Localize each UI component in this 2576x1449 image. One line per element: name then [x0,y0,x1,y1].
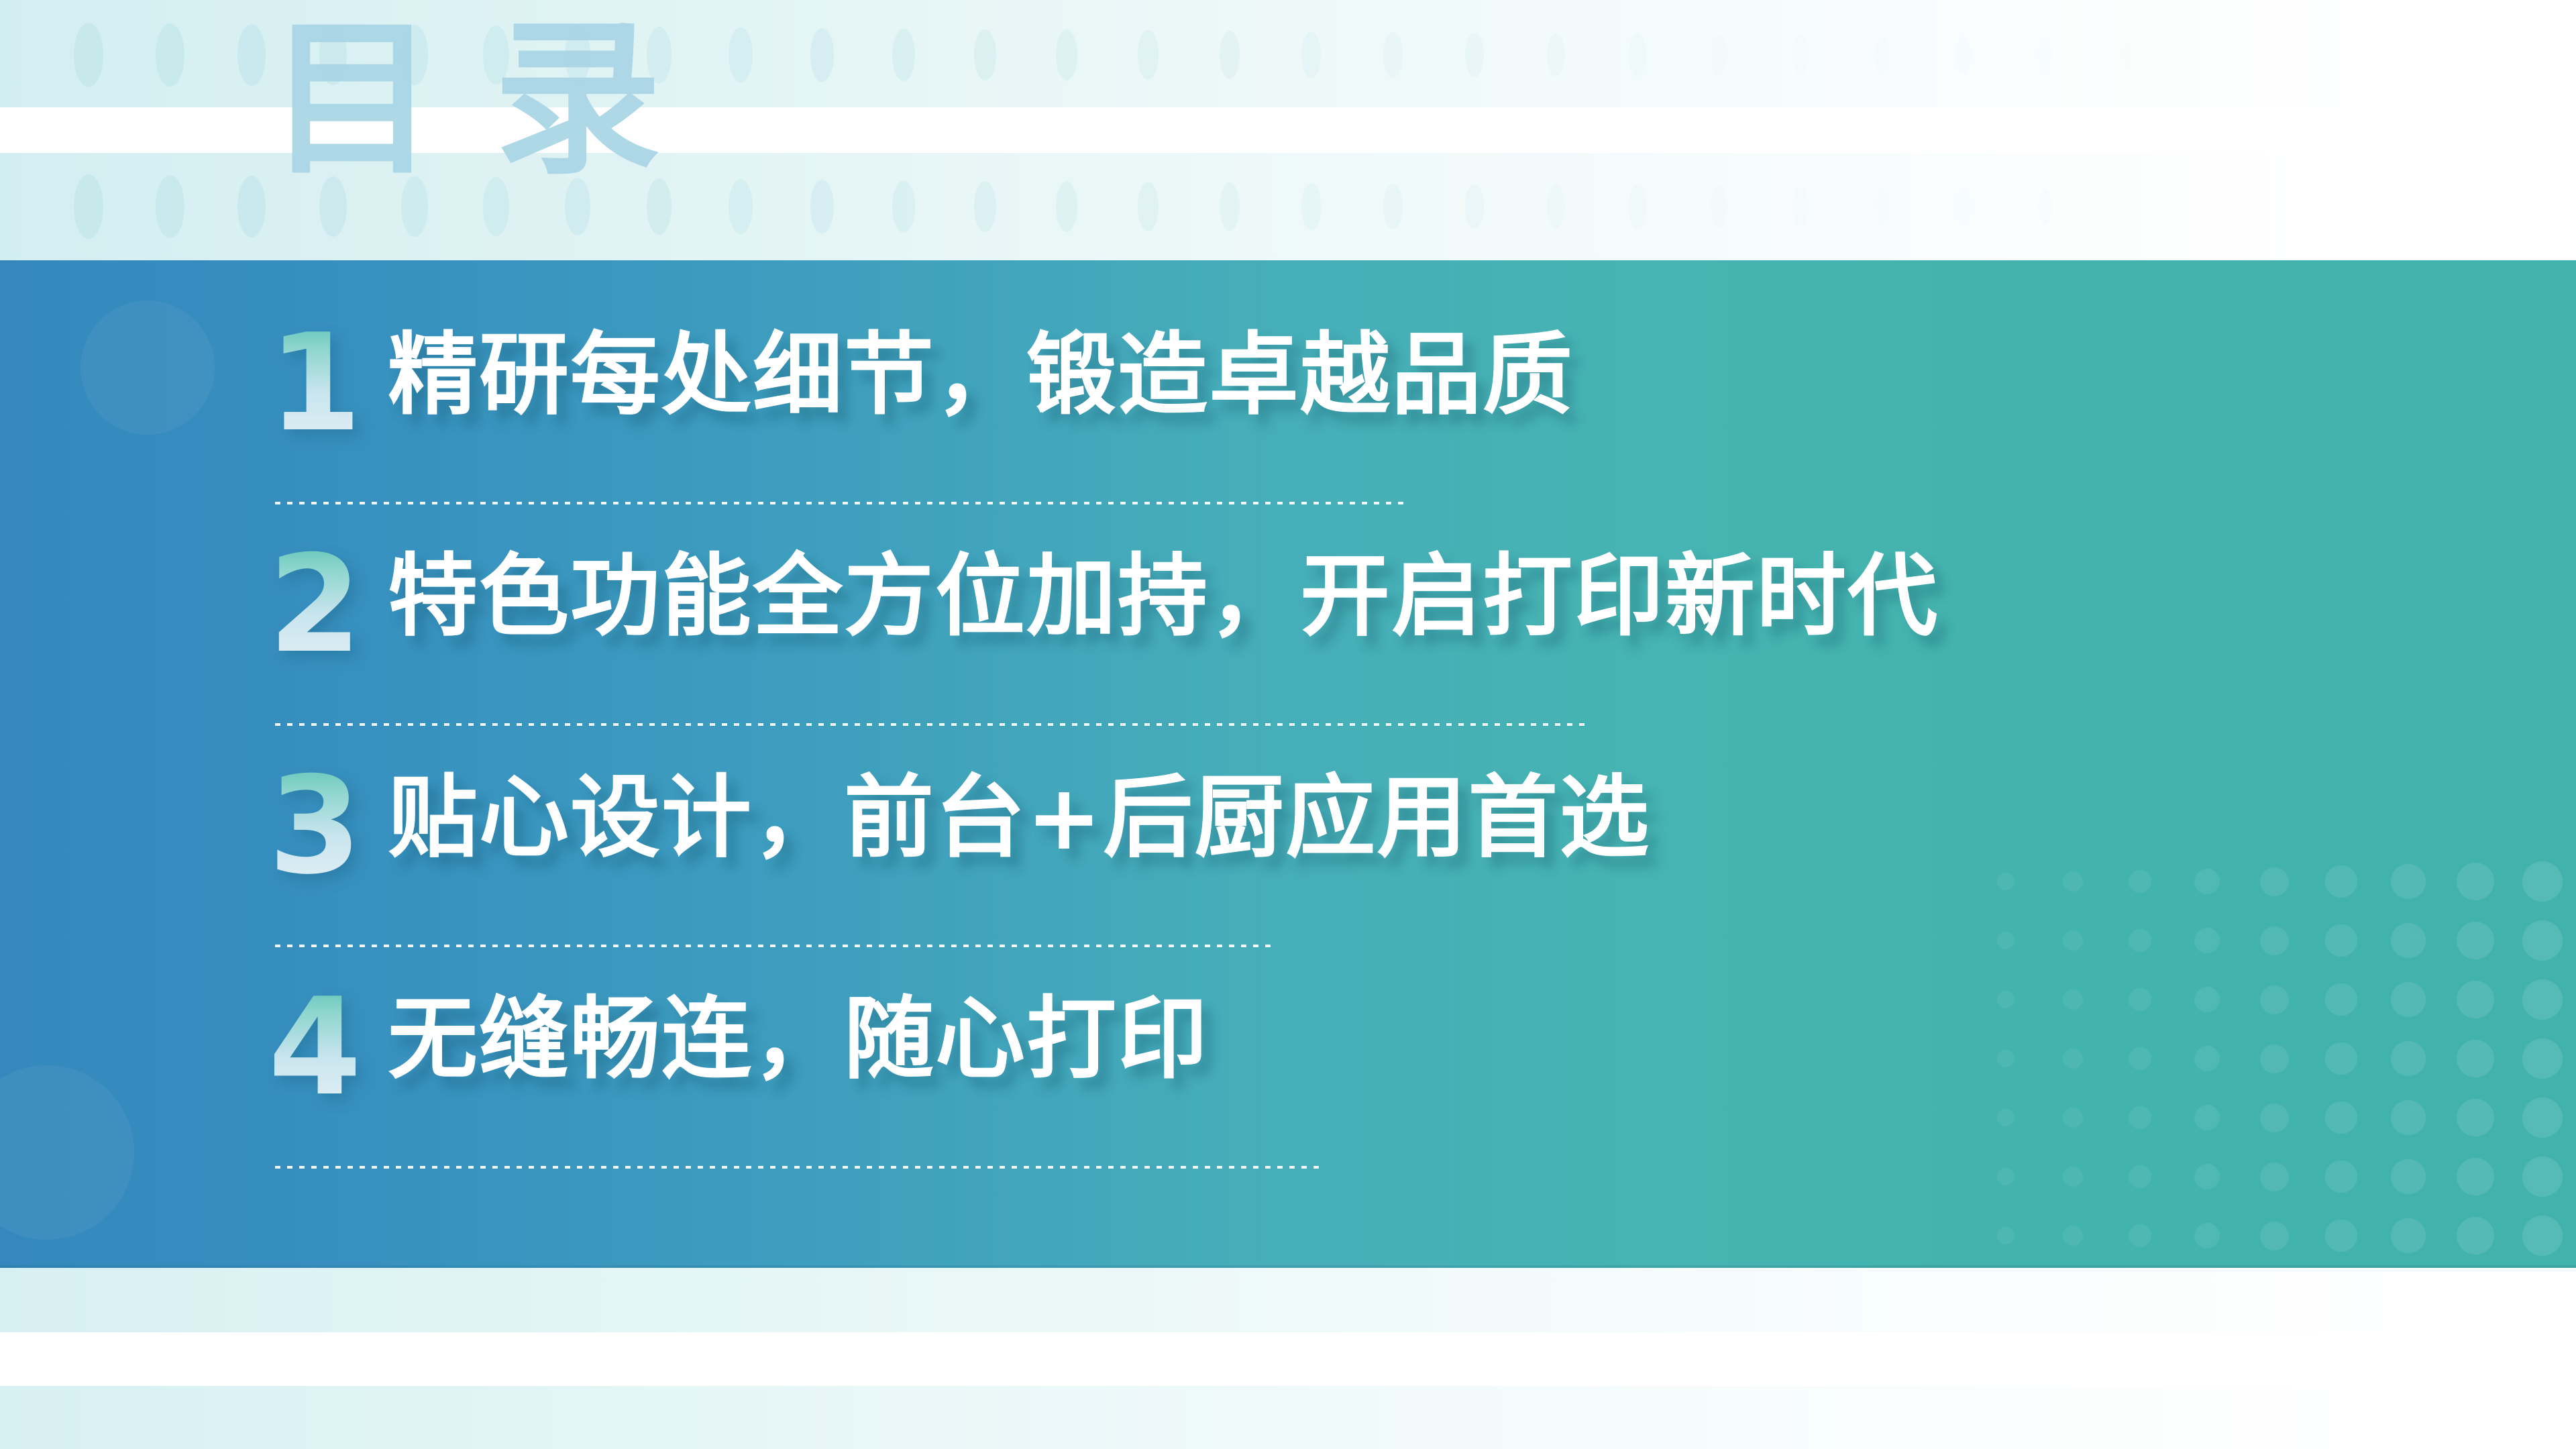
toc-item-number: 4 [268,986,376,1110]
toc-list: 1 精研每处细节，锻造卓越品质 2 特色功能全方位加持，开启打印新时代 3 贴心… [0,260,2576,1268]
bottom-white-band [0,1332,2576,1386]
toc-item-label: 精研每处细节，锻造卓越品质 [388,322,1574,428]
toc-item-label: 无缝畅连，随心打印 [388,986,1209,1092]
toc-item-divider [275,502,1409,504]
list-item[interactable]: 3 贴心设计，前台+后厨应用首选 [268,765,1650,888]
toc-item-number: 1 [268,322,376,445]
list-item[interactable]: 2 特色功能全方位加持，开启打印新时代 [268,543,1939,667]
list-item[interactable]: 4 无缝畅连，随心打印 [268,986,1209,1110]
toc-item-label: 贴心设计，前台+后厨应用首选 [388,765,1650,871]
toc-item-number: 2 [268,543,376,667]
toc-item-divider [275,1166,1322,1169]
bottom-tint-band-upper [0,1268,2576,1332]
toc-item-number: 3 [268,765,376,888]
slide-root: 目录 1 精研每处细节，锻造卓越品质 2 特色功能全方位加持，开启打印新时代 3… [0,0,2576,1449]
toc-item-label: 特色功能全方位加持，开启打印新时代 [388,543,1939,649]
list-item[interactable]: 1 精研每处细节，锻造卓越品质 [268,322,1574,445]
bottom-tint-band-lower [0,1386,2576,1449]
toc-item-divider [275,723,1590,726]
page-title: 目录 [268,16,719,184]
toc-item-divider [275,945,1275,947]
